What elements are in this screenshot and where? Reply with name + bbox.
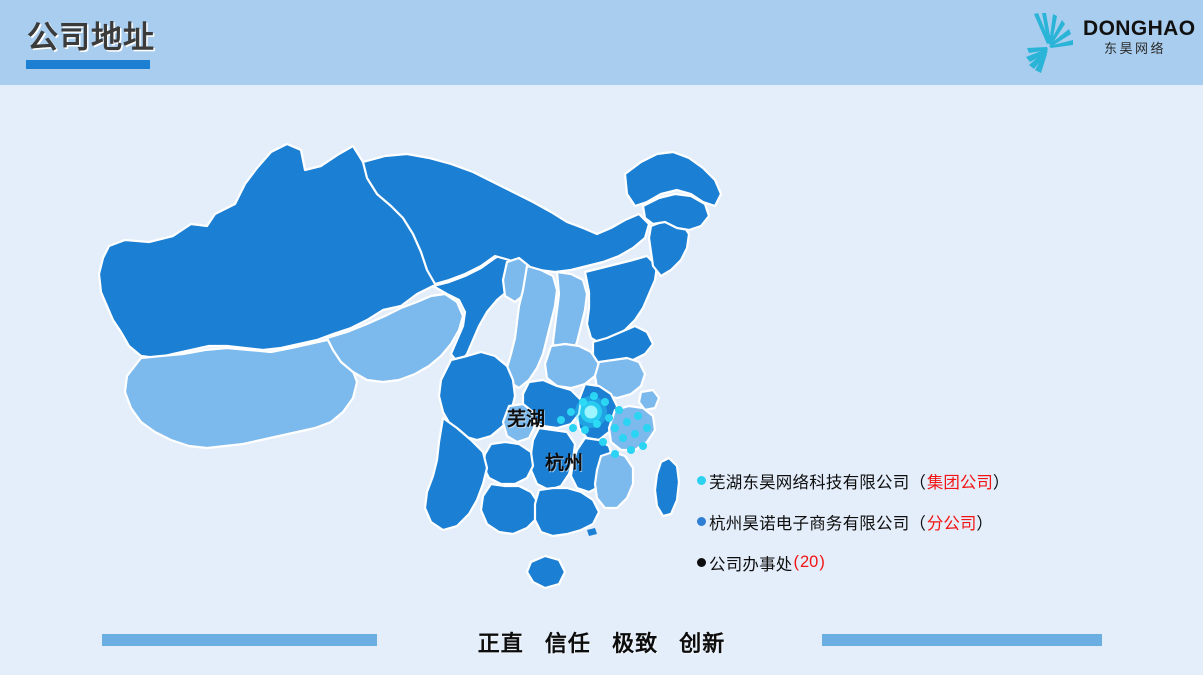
- office-marker: [567, 408, 575, 416]
- logo-subtext: 东昊网络: [1083, 42, 1187, 56]
- map-legend: 芜湖东昊网络科技有限公司 （ 集团公司 ） 杭州昊诺电子商务有限公司 （ 分公司…: [697, 460, 1117, 583]
- donghao-fan-logo-icon: [1017, 8, 1083, 76]
- legend-office-count-paren-open: (: [794, 553, 800, 572]
- office-marker: [557, 416, 565, 424]
- region-hongkong: [587, 528, 597, 536]
- office-marker: [619, 434, 627, 442]
- legend-company-name: 杭州昊诺电子商务有限公司: [709, 510, 909, 534]
- page-title: 公司地址: [27, 22, 155, 53]
- office-marker: [611, 450, 619, 458]
- office-marker: [627, 446, 635, 454]
- legend-close-paren: ）: [976, 510, 993, 534]
- legend-open-paren: （: [909, 510, 926, 534]
- legend-bullet-black-icon: [697, 558, 706, 567]
- slogan-word-4: 创新: [679, 631, 725, 656]
- province-tibet: [125, 340, 357, 448]
- china-map-area[interactable]: 芜湖 杭州: [95, 110, 735, 610]
- china-map-svg: [95, 110, 735, 610]
- province-guangdong: [535, 488, 599, 536]
- map-label-hangzhou: 杭州: [545, 448, 583, 475]
- office-marker: [615, 406, 623, 414]
- legend-bullet-blue-icon: [697, 517, 706, 526]
- legend-office-count-paren-close: ): [819, 553, 825, 572]
- province-guizhou: [483, 442, 533, 484]
- office-marker: [643, 424, 651, 432]
- province-henan: [545, 344, 599, 388]
- legend-bullet-cyan-icon: [697, 476, 706, 485]
- office-marker: [611, 424, 619, 432]
- office-marker: [639, 442, 647, 450]
- office-marker: [634, 412, 642, 420]
- office-marker: [631, 430, 639, 438]
- legend-office-name: 公司办事处: [709, 551, 793, 575]
- office-marker: [599, 438, 607, 446]
- province-taiwan: [655, 458, 679, 516]
- province-fujian: [595, 452, 633, 508]
- legend-close-paren: ）: [993, 469, 1010, 493]
- slogan-word-2: 信任: [545, 631, 591, 656]
- slogan-word-3: 极致: [612, 631, 658, 656]
- map-label-wuhu: 芜湖: [507, 404, 545, 431]
- logo-text-block: DONGHAO 东昊网络: [1083, 18, 1187, 56]
- office-marker: [623, 418, 631, 426]
- province-guangxi: [481, 484, 539, 534]
- brand-logo[interactable]: DONGHAO 东昊网络: [1017, 6, 1187, 78]
- office-marker: [569, 424, 577, 432]
- legend-company-name: 芜湖东昊网络科技有限公司: [709, 469, 909, 493]
- legend-item-branch-company[interactable]: 杭州昊诺电子商务有限公司 （ 分公司 ）: [697, 501, 1117, 542]
- legend-office-count: 20: [800, 553, 818, 572]
- legend-item-group-company[interactable]: 芜湖东昊网络科技有限公司 （ 集团公司 ）: [697, 460, 1117, 501]
- province-hainan: [527, 556, 565, 588]
- footer-slogan: 正直 信任 极致 创新: [0, 626, 1203, 658]
- logo-wordmark: DONGHAO: [1083, 18, 1187, 40]
- legend-open-paren: （: [909, 469, 926, 493]
- slogan-word-1: 正直: [478, 631, 524, 656]
- legend-tag-branch: 分公司: [927, 510, 977, 534]
- legend-item-offices[interactable]: 公司办事处 ( 20 ): [697, 542, 1117, 583]
- legend-tag-group: 集团公司: [927, 469, 993, 493]
- title-underline: [26, 60, 150, 69]
- headquarters-marker: [575, 396, 607, 428]
